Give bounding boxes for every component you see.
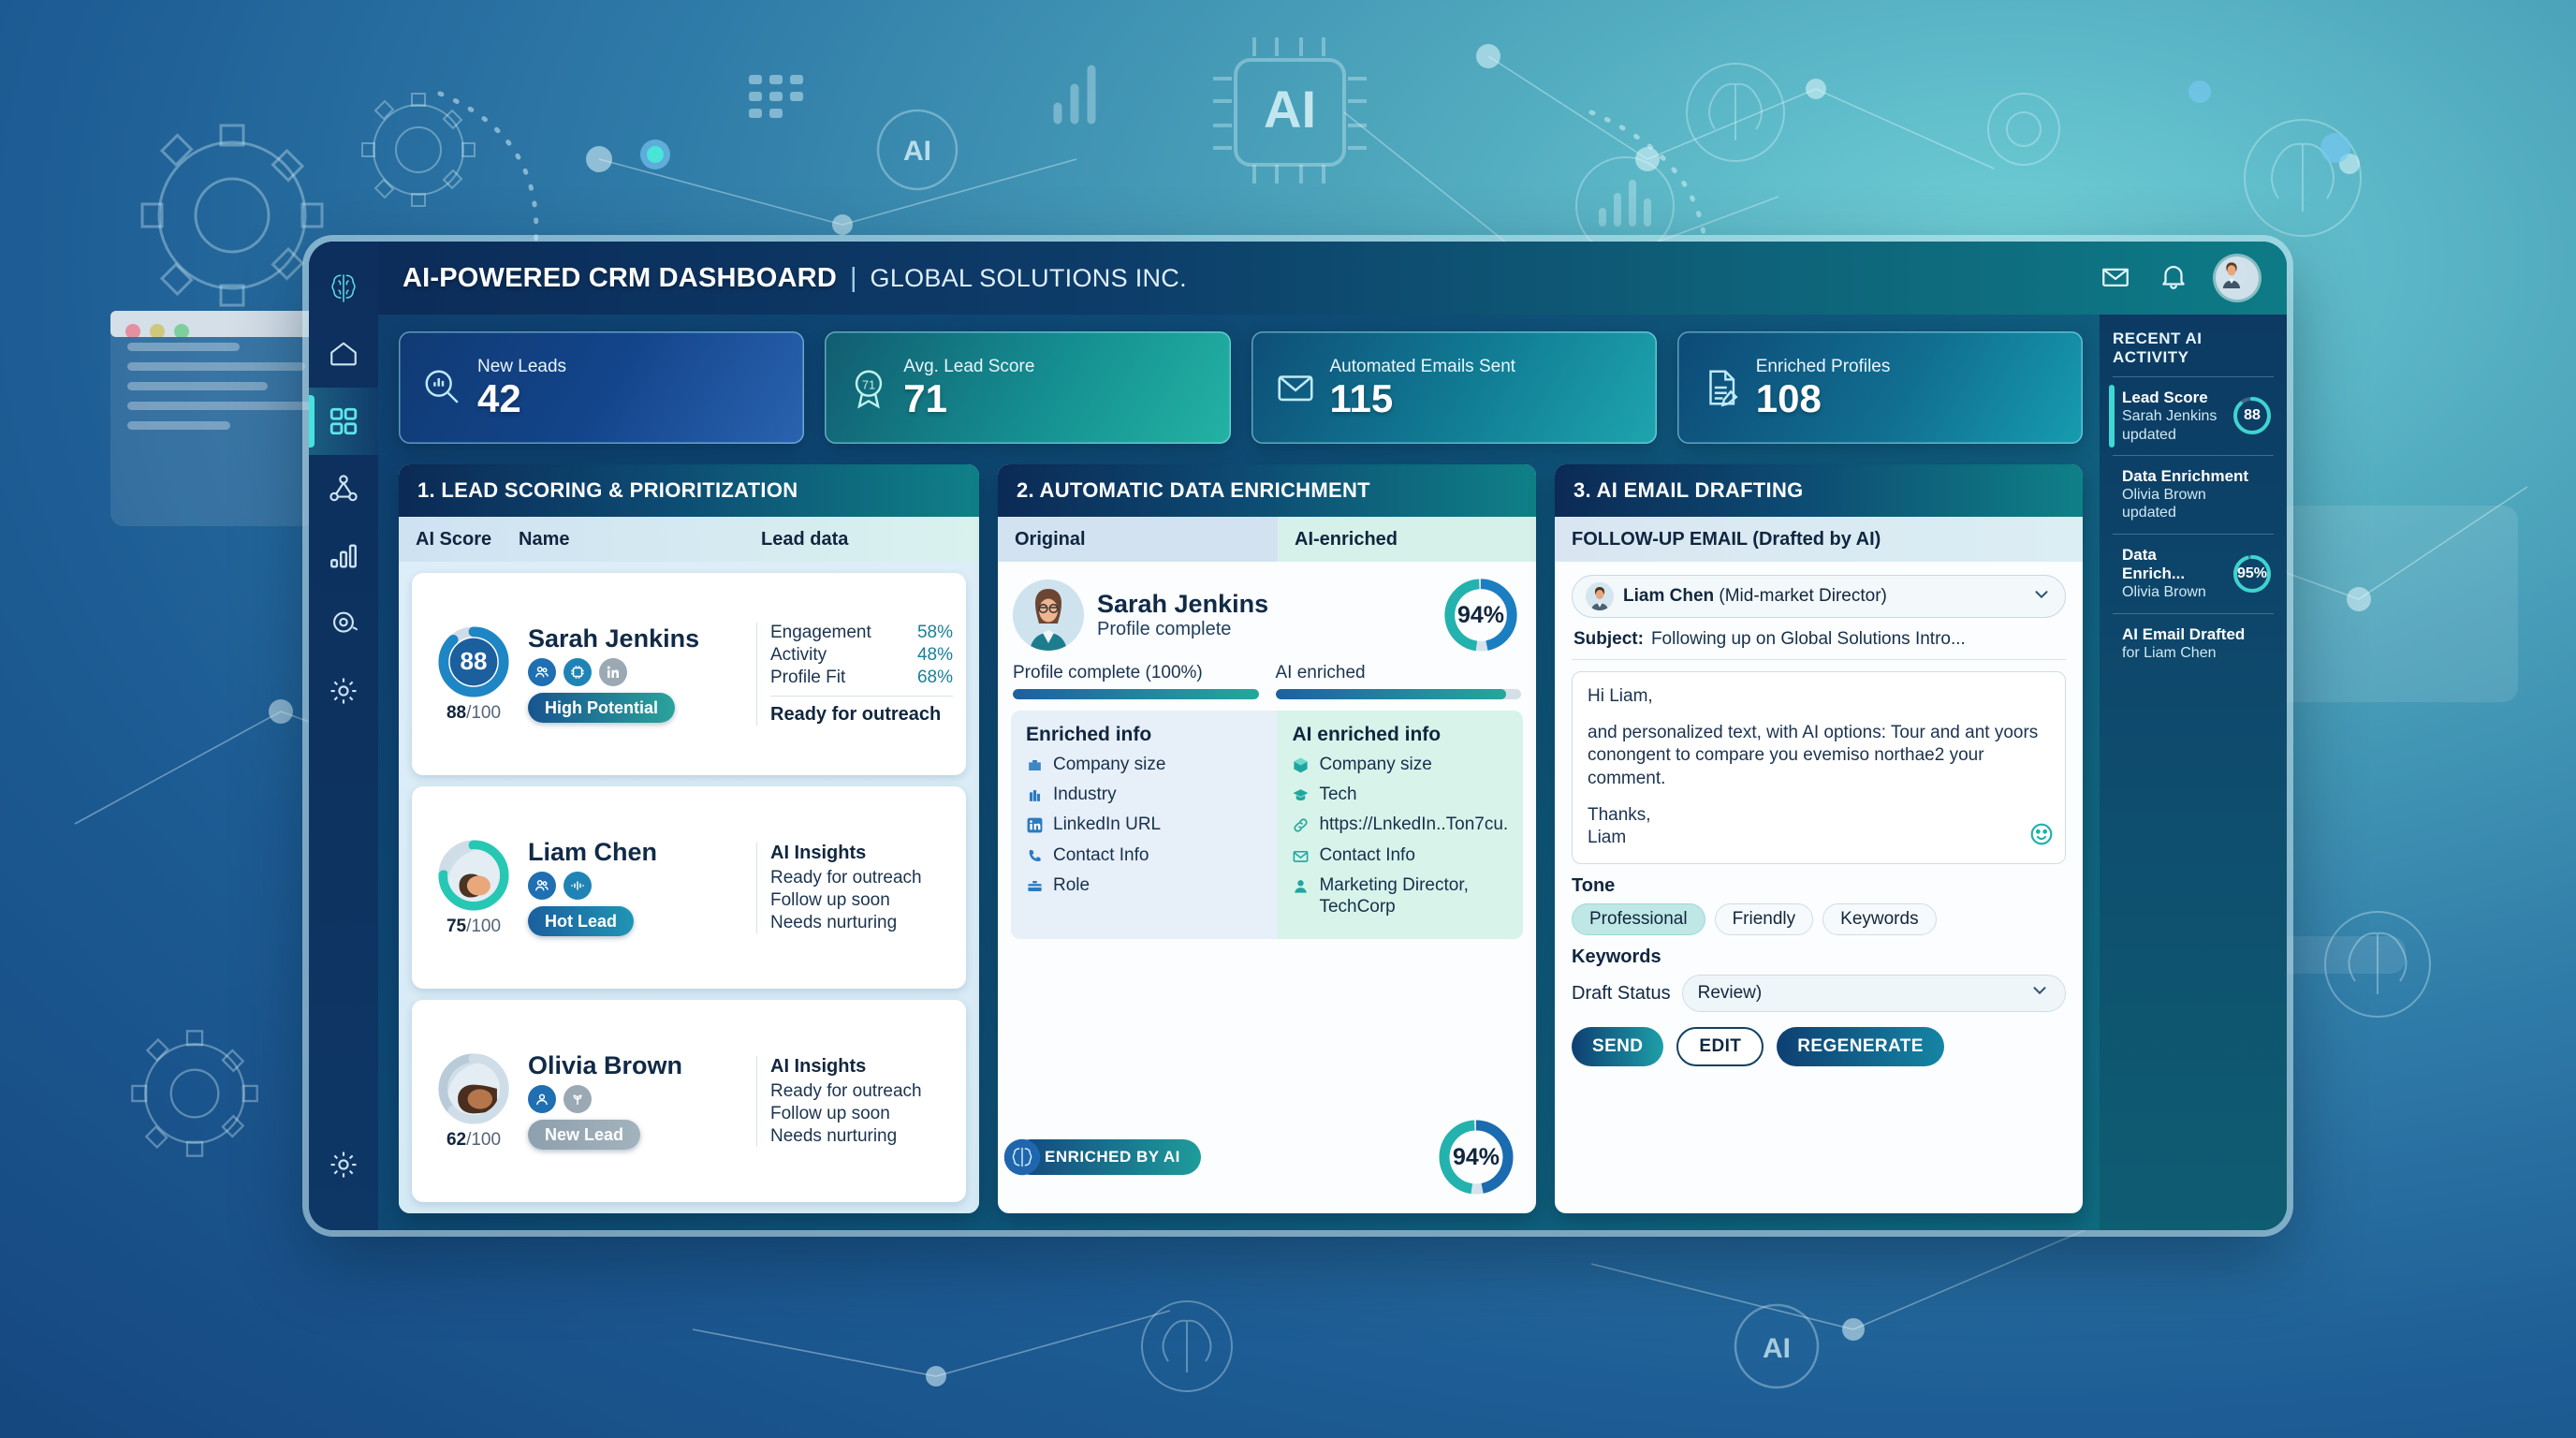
- badge-label: ENRICHED BY AI: [1045, 1148, 1180, 1167]
- person-icon: [1292, 877, 1310, 895]
- company-name: GLOBAL SOLUTIONS INC.: [871, 264, 1187, 293]
- list-item: Company size: [1026, 754, 1262, 775]
- lead-chip-icons: [528, 872, 756, 900]
- enrichment-donut-top: 94%: [1441, 575, 1521, 655]
- send-button[interactable]: SEND: [1572, 1027, 1663, 1066]
- lead-name: Sarah Jenkins: [528, 625, 756, 652]
- kpi-label: New Leads: [477, 357, 566, 377]
- metric-label: Activity: [770, 645, 827, 666]
- lead-insights: AI Insights Ready for outreach Follow up…: [756, 843, 953, 933]
- kpi-value: 42: [477, 379, 566, 419]
- insights-title: AI Insights: [770, 1056, 953, 1078]
- lead-metrics: Engagement 58% Activity 48%: [756, 623, 953, 726]
- progress-right: AI enriched: [1276, 663, 1522, 699]
- sidebar-rail: [309, 242, 378, 1230]
- activity-head: AI Email Drafted: [2122, 625, 2274, 644]
- enrichment-person-row: Sarah Jenkins Profile complete: [998, 562, 1536, 659]
- activity-ring-value: 88: [2231, 394, 2274, 437]
- activity-item-data-enrichment[interactable]: Data Enrichment Olivia Brown updated: [2113, 455, 2274, 534]
- activity-item-lead-score[interactable]: Lead Score Sarah Jenkins updated 88: [2113, 376, 2274, 455]
- chevron-down-icon[interactable]: [2029, 980, 2050, 1006]
- list-item: Tech: [1292, 784, 1508, 805]
- app-window: AI-POWERED CRM DASHBOARD | GLOBAL SOLUTI…: [309, 242, 2287, 1230]
- ai-node-circle: AI: [878, 110, 957, 189]
- enriched-info-title: Enriched info: [1026, 724, 1262, 746]
- list-item[interactable]: 88 88/100 Sarah Jenkins: [412, 573, 966, 775]
- kpi-card-automated-emails[interactable]: Automated Emails Sent 115: [1251, 331, 1657, 444]
- score-value: 88: [437, 625, 510, 698]
- insight-item: Ready for outreach: [770, 868, 953, 888]
- recipient-role: (Mid-market Director): [1719, 586, 1886, 606]
- avatar: [447, 1063, 500, 1115]
- chart-circle-topleft: [1058, 69, 1091, 120]
- link-icon: [1292, 816, 1310, 834]
- team-icon[interactable]: [528, 872, 556, 900]
- list-item: Marketing Director, TechCorp: [1292, 874, 1508, 917]
- insight-item: Needs nurturing: [770, 913, 953, 933]
- score-column: 75/100: [425, 839, 522, 937]
- main-column: New Leads 42 71 Av: [378, 315, 2100, 1230]
- lead-table-header: AI Score Name Lead data: [399, 517, 979, 562]
- bell-icon[interactable]: [2158, 260, 2189, 297]
- gear-decoration-bottom-left: [132, 1031, 256, 1155]
- gear-decoration: [142, 125, 322, 305]
- item-label: Contact Info: [1319, 844, 1414, 866]
- subject-value: Following up on Global Solutions Intro..…: [1651, 629, 1966, 650]
- score-max: /100: [466, 917, 501, 936]
- content-row: New Leads 42 71 Av: [378, 315, 2287, 1230]
- email-signoff: Thanks,: [1588, 804, 2050, 828]
- kpi-value: 108: [1756, 379, 1891, 419]
- progress-left: Profile complete (100%): [1013, 663, 1259, 699]
- enrichment-person-info: Sarah Jenkins Profile complete: [1084, 590, 1441, 640]
- ai-enriched-info-column: AI enriched info Company size Tech: [1277, 711, 1523, 939]
- search-lead-icon: [414, 366, 472, 409]
- kpi-label: Enriched Profiles: [1756, 357, 1891, 377]
- list-item: Industry: [1026, 784, 1262, 805]
- panel-title: 2. AUTOMATIC DATA ENRICHMENT: [998, 464, 1536, 517]
- list-item: Contact Info: [1292, 844, 1508, 866]
- smiley-icon[interactable]: [2029, 822, 2054, 854]
- score-num: 62: [446, 1130, 466, 1150]
- activity-sub2: updated: [2122, 426, 2223, 444]
- sidebar-item-settings[interactable]: [309, 657, 378, 725]
- item-label: Marketing Director, TechCorp: [1319, 874, 1508, 917]
- email-paragraph: and personalized text, with AI options: …: [1588, 722, 2050, 791]
- panel-lead-scoring: 1. LEAD SCORING & PRIORITIZATION AI Scor…: [399, 464, 979, 1213]
- activity-ring: 88: [2231, 394, 2274, 437]
- top-bar-actions: [2100, 257, 2259, 300]
- progress-label: Profile complete (100%): [1013, 663, 1259, 683]
- ai-chip-icon[interactable]: [563, 658, 592, 686]
- graduation-icon: [1292, 786, 1310, 804]
- score-num: 75: [446, 917, 466, 936]
- lead-chip-icons: [528, 1085, 756, 1113]
- draft-status-select[interactable]: Review): [1682, 975, 2066, 1012]
- circle-decoration: [1988, 94, 2059, 165]
- score-label: 75/100: [446, 917, 501, 937]
- brain-logo-icon: [309, 257, 378, 320]
- role-icon: [1026, 877, 1044, 895]
- panel-title: 1. LEAD SCORING & PRIORITIZATION: [399, 464, 979, 517]
- email-subtitle: FOLLOW-UP EMAIL (Drafted by AI): [1555, 517, 2083, 562]
- item-label: Industry: [1053, 784, 1117, 805]
- enrichment-column-headers: Original AI-enriched: [998, 517, 1536, 562]
- avatar: [447, 849, 500, 902]
- column-lead-data: Lead data: [761, 529, 962, 550]
- metric-label: Profile Fit: [770, 668, 845, 688]
- insight-item: Needs nurturing: [770, 1126, 953, 1147]
- email-sender-name: Liam: [1588, 827, 2050, 850]
- activity-head: Data Enrichment: [2122, 467, 2274, 486]
- list-item[interactable]: 62/100 Olivia Brown: [412, 1000, 966, 1202]
- activity-sub2: updated: [2122, 504, 2274, 521]
- metric-value: 68%: [917, 668, 953, 688]
- briefcase-icon: [1026, 756, 1044, 774]
- panel-email-drafting: 3. AI EMAIL DRAFTING FOLLOW-UP EMAIL (Dr…: [1555, 464, 2083, 1213]
- brain-decoration-farright: [2325, 912, 2430, 1017]
- avatar: [1013, 580, 1084, 651]
- insight-item: Follow up soon: [770, 1104, 953, 1124]
- metric-row: Engagement 58%: [770, 623, 953, 643]
- metric-row: Activity 48%: [770, 645, 953, 666]
- progress-track: [1013, 689, 1259, 699]
- kpi-label: Avg. Lead Score: [903, 357, 1034, 377]
- app-body: AI-POWERED CRM DASHBOARD | GLOBAL SOLUTI…: [378, 242, 2287, 1230]
- score-ring: [437, 1052, 510, 1125]
- lead-name: Olivia Brown: [528, 1052, 756, 1078]
- activity-item-email-drafted[interactable]: AI Email Drafted for Liam Chen: [2113, 613, 2274, 674]
- plant-icon[interactable]: [563, 1085, 592, 1113]
- svg-text:AI: AI: [1763, 1333, 1791, 1364]
- column-ai-score: AI Score: [416, 529, 519, 550]
- score-ring: [437, 839, 510, 912]
- svg-text:AI: AI: [903, 136, 931, 167]
- item-label: Role: [1053, 874, 1090, 896]
- status-badge[interactable]: Hot Lead: [528, 906, 634, 936]
- enriched-info-column: Enriched info Company size Industry: [1011, 711, 1277, 939]
- svg-text:AI: AI: [1264, 80, 1316, 139]
- lead-name: Liam Chen: [528, 839, 756, 865]
- insight-item: Follow up soon: [770, 890, 953, 911]
- tone-option-friendly[interactable]: Friendly: [1715, 903, 1814, 935]
- team-icon[interactable]: [528, 658, 556, 686]
- kpi-label: Automated Emails Sent: [1330, 357, 1516, 377]
- item-label: Company size: [1053, 754, 1165, 775]
- item-label: https://LnkedIn..Ton7cu.: [1319, 814, 1508, 835]
- lead-insights: AI Insights Ready for outreach Follow up…: [756, 1056, 953, 1147]
- signal-icon[interactable]: [563, 872, 592, 900]
- activity-sub: Sarah Jenkins: [2122, 407, 2223, 425]
- email-actions: SEND EDIT REGENERATE: [1572, 1027, 2066, 1066]
- edit-button[interactable]: EDIT: [1676, 1027, 1764, 1066]
- kpi-card-avg-lead-score[interactable]: 71 Avg. Lead Score 71: [825, 331, 1230, 444]
- sidebar-item-dashboard[interactable]: [309, 388, 378, 455]
- ai-node-circle-bottom: AI: [1735, 1305, 1818, 1387]
- envelope-icon: [1266, 366, 1325, 409]
- lead-info: Olivia Brown: [522, 1052, 756, 1150]
- panel-title: 3. AI EMAIL DRAFTING: [1555, 464, 2083, 517]
- activity-head: Lead Score: [2122, 389, 2223, 407]
- draft-status-label: Draft Status: [1572, 983, 1671, 1005]
- score-column: 62/100: [425, 1052, 522, 1151]
- insight-item: Ready for outreach: [770, 1081, 953, 1102]
- lead-info: Sarah Jenkins: [522, 625, 756, 723]
- enriched-by-ai-badge: ENRICHED BY AI: [1013, 1139, 1201, 1175]
- sidebar-item-network[interactable]: [309, 455, 378, 522]
- sidebar-item-analytics[interactable]: [309, 522, 378, 590]
- column-original: Original: [998, 517, 1278, 562]
- item-label: Company size: [1319, 754, 1431, 775]
- ribbon-icon: 71: [840, 366, 898, 409]
- avatar: [1586, 582, 1614, 610]
- list-item: Role: [1026, 874, 1262, 896]
- item-label: Contact Info: [1053, 844, 1149, 866]
- keywords-label: Keywords: [1572, 946, 2066, 968]
- box-icon: [1292, 756, 1310, 774]
- metric-value: 58%: [917, 623, 953, 643]
- score-label: 88/100: [446, 703, 501, 724]
- donut-value: 94%: [1435, 1116, 1517, 1198]
- brain-decoration-left: [1142, 1301, 1232, 1391]
- score-num: 88: [446, 703, 466, 723]
- user-avatar[interactable]: [2216, 257, 2259, 300]
- score-column: 88 88/100: [425, 625, 522, 724]
- activity-item-data-enrich-95[interactable]: Data Enrich... Olivia Brown 95%: [2113, 534, 2274, 613]
- page-title: AI-POWERED CRM DASHBOARD: [402, 263, 837, 294]
- sidebar-item-preferences[interactable]: [309, 1131, 378, 1198]
- title-separator: |: [850, 263, 857, 294]
- list-item: Contact Info: [1026, 844, 1262, 866]
- divider: [770, 696, 953, 697]
- person-name: Sarah Jenkins: [1097, 590, 1441, 619]
- kpi-card-new-leads[interactable]: New Leads 42: [399, 331, 804, 444]
- ai-enriched-title: AI enriched info: [1292, 724, 1508, 746]
- metric-value: 48%: [917, 645, 953, 666]
- draft-status-row: Draft Status Review): [1572, 975, 2066, 1012]
- svg-text:71: 71: [862, 377, 875, 391]
- dot-grid: [749, 75, 803, 118]
- metric-row: Profile Fit 68%: [770, 668, 953, 688]
- insights-title: AI Insights: [770, 843, 953, 864]
- recipient-select[interactable]: Liam Chen (Mid-market Director): [1572, 575, 2066, 618]
- enrichment-details: Enriched info Company size Industry: [1011, 711, 1523, 939]
- recipient-text: Liam Chen (Mid-market Director): [1623, 586, 1887, 607]
- draft-status-value: Review): [1698, 983, 1763, 1004]
- panel-data-enrichment: 2. AUTOMATIC DATA ENRICHMENT Original AI…: [998, 464, 1536, 1213]
- column-name: Name: [519, 529, 761, 550]
- recipient-name: Liam Chen: [1623, 586, 1714, 606]
- industry-icon: [1026, 786, 1044, 804]
- kpi-value: 71: [903, 379, 1034, 419]
- tone-option-professional[interactable]: Professional: [1572, 903, 1705, 935]
- score-max: /100: [466, 703, 501, 723]
- linkedin-icon[interactable]: [599, 658, 627, 686]
- subject-label: Subject:: [1573, 629, 1644, 650]
- email-greeting: Hi Liam,: [1588, 685, 2050, 709]
- gear-decoration-small: [362, 94, 475, 206]
- activity-sub: Olivia Brown: [2122, 486, 2274, 504]
- activity-title: RECENT AI ACTIVITY: [2113, 330, 2274, 367]
- donut-value: 94%: [1441, 575, 1521, 655]
- kpi-row: New Leads 42 71 Av: [399, 331, 2083, 444]
- score-max: /100: [466, 1130, 501, 1150]
- score-label: 62/100: [446, 1130, 501, 1151]
- email-subject-row: Subject: Following up on Global Solution…: [1572, 618, 2066, 660]
- activity-sub: for Liam Chen: [2122, 644, 2274, 662]
- envelope-icon: [1292, 847, 1310, 865]
- top-bar: AI-POWERED CRM DASHBOARD | GLOBAL SOLUTI…: [378, 242, 2287, 315]
- sidebar-item-home[interactable]: [309, 320, 378, 388]
- activity-sub: Olivia Brown: [2122, 583, 2223, 601]
- tone-option-keywords[interactable]: Keywords: [1822, 903, 1936, 935]
- activity-ring: 95%: [2231, 552, 2274, 595]
- lead-chip-icons: [528, 658, 756, 686]
- lead-status: Ready for outreach: [770, 704, 953, 726]
- brain-decoration-topright: [1687, 64, 1784, 161]
- document-edit-icon: [1692, 366, 1750, 409]
- brain-decoration-right: [2245, 120, 2361, 236]
- panels-row: 1. LEAD SCORING & PRIORITIZATION AI Scor…: [399, 464, 2083, 1213]
- score-ring: 88: [437, 625, 510, 698]
- column-ai-enriched: AI-enriched: [1278, 517, 1536, 562]
- enrichment-progress-bars: Profile complete (100%) AI enriched: [998, 659, 1536, 711]
- list-item: LinkedIn URL: [1026, 814, 1262, 835]
- lead-list: 88 88/100 Sarah Jenkins: [399, 562, 979, 1213]
- tone-options: Professional Friendly Keywords: [1572, 903, 2066, 935]
- phone-icon: [1026, 847, 1044, 865]
- tone-label: Tone: [1572, 875, 2066, 897]
- recent-activity-panel: RECENT AI ACTIVITY Lead Score Sarah Jenk…: [2100, 315, 2287, 1230]
- chart-circle-top: [1576, 157, 1674, 255]
- mail-icon[interactable]: [2100, 260, 2131, 297]
- activity-ring-value: 95%: [2231, 552, 2274, 595]
- progress-track: [1276, 689, 1522, 699]
- enrichment-footer: ENRICHED BY AI 94%: [998, 1103, 1536, 1213]
- kpi-card-enriched-profiles[interactable]: Enriched Profiles 108: [1677, 331, 2083, 444]
- sidebar-item-contacts[interactable]: [309, 590, 378, 657]
- chevron-down-icon[interactable]: [2031, 584, 2052, 609]
- kpi-value: 115: [1330, 379, 1516, 419]
- ai-chip-graphic: AI: [1213, 37, 1367, 183]
- status-badge[interactable]: New Lead: [528, 1120, 640, 1150]
- list-item: https://LnkedIn..Ton7cu.: [1292, 814, 1508, 835]
- item-label: LinkedIn URL: [1053, 814, 1161, 835]
- metric-label: Engagement: [770, 623, 871, 643]
- regenerate-button[interactable]: REGENERATE: [1777, 1027, 1944, 1066]
- status-badge[interactable]: High Potential: [528, 693, 675, 723]
- linkedin-icon: [1026, 816, 1044, 834]
- list-item: Company size: [1292, 754, 1508, 775]
- list-item[interactable]: 75/100 Liam Chen: [412, 786, 966, 989]
- person-subtitle: Profile complete: [1097, 619, 1441, 640]
- lead-info: Liam Chen: [522, 839, 756, 936]
- brain-gear-icon: [1002, 1137, 1043, 1178]
- email-body[interactable]: Hi Liam, and personalized text, with AI …: [1572, 671, 2066, 864]
- enrichment-donut-bottom: 94%: [1435, 1116, 1517, 1198]
- progress-label: AI enriched: [1276, 663, 1522, 683]
- activity-head: Data Enrich...: [2122, 546, 2223, 584]
- analytics-icon[interactable]: [528, 1085, 556, 1113]
- item-label: Tech: [1319, 784, 1356, 805]
